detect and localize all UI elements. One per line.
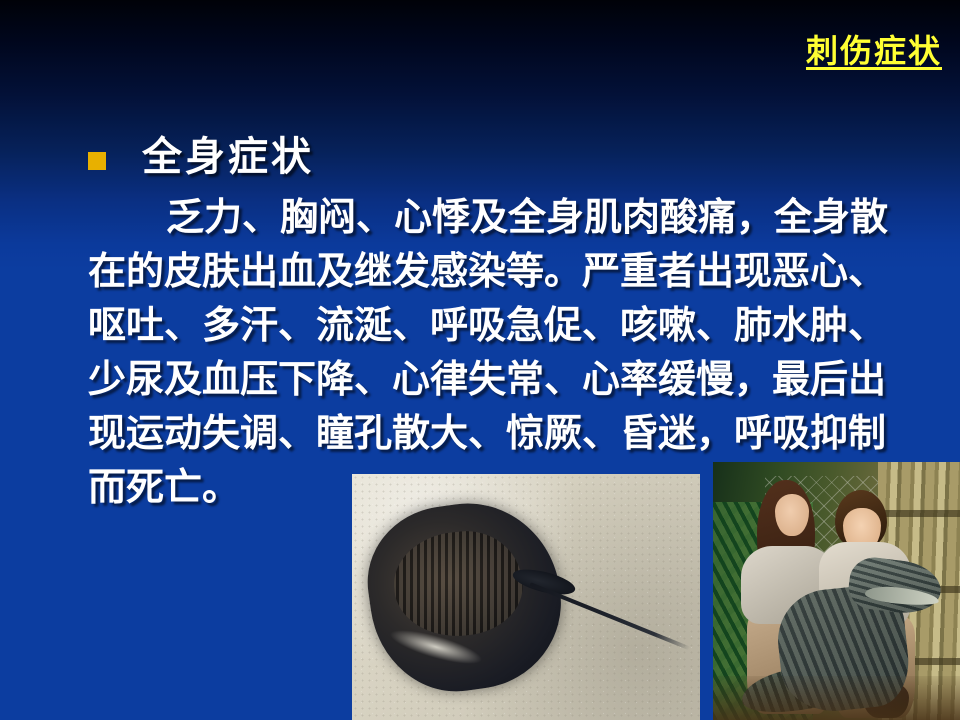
presentation-slide: 刺伤症状 全身症状 乏力、胸闷、心悸及全身肌肉酸痛，全身散 在的皮肤出血及继发感…	[0, 0, 960, 720]
page-title: 刺伤症状	[806, 26, 942, 72]
bullet-heading: 全身症状	[88, 124, 314, 182]
crocodile-handlers-photo	[713, 462, 960, 720]
bamboo-node	[878, 510, 960, 517]
body-line: 少尿及血压下降、心律失常、心率缓慢，最后出	[88, 352, 948, 406]
stingray-photo	[352, 474, 700, 720]
body-line: 乏力、胸闷、心悸及全身肌肉酸痛，全身散	[88, 190, 948, 244]
body-line: 在的皮肤出血及继发感染等。严重者出现恶心、	[88, 244, 948, 298]
body-line: 呕吐、多汗、流涎、呼吸急促、咳嗽、肺水肿、	[88, 298, 948, 352]
body-line: 现运动失调、瞳孔散大、惊厥、昏迷，呼吸抑制	[88, 406, 948, 460]
mud-ground	[713, 676, 960, 720]
bullet-heading-label: 全身症状	[142, 124, 314, 182]
square-bullet-icon	[88, 152, 106, 170]
woman-face	[775, 494, 809, 536]
